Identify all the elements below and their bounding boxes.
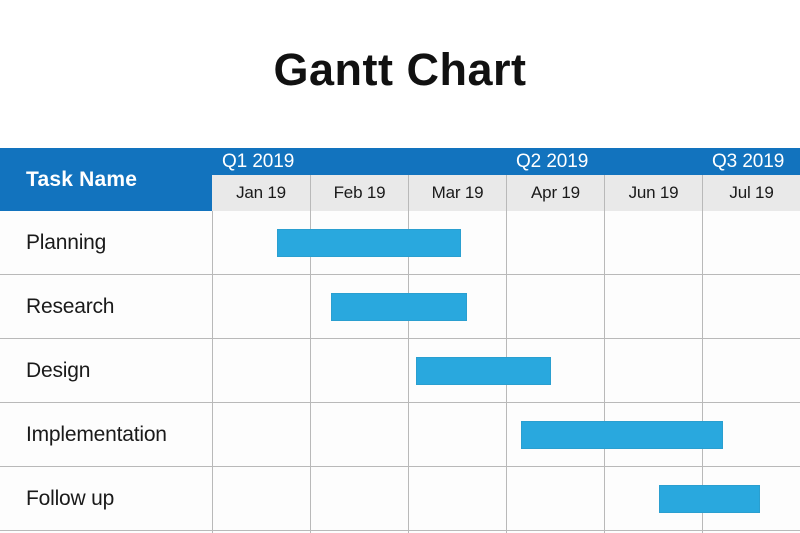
quarter-header-cell: Q3 2019	[702, 148, 800, 175]
month-header-cell[interactable]: Jun 19	[604, 175, 702, 211]
gantt-bar[interactable]	[521, 421, 723, 449]
task-name-label: Follow up	[26, 467, 114, 531]
quarter-header-cell: Q2 2019	[506, 148, 702, 175]
month-header-cell[interactable]: Jan 19	[212, 175, 310, 211]
month-header-cell[interactable]: Jul 19	[702, 175, 800, 211]
quarter-header-row: Q1 2019Q2 2019Q3 2019	[212, 148, 800, 175]
month-header-cell[interactable]: Feb 19	[310, 175, 408, 211]
gantt-bar[interactable]	[659, 485, 760, 513]
month-header-cell[interactable]: Apr 19	[506, 175, 604, 211]
gantt-bar[interactable]	[331, 293, 467, 321]
task-name-label: Design	[26, 339, 90, 403]
gantt-bars-layer	[0, 211, 800, 533]
gantt-bar[interactable]	[277, 229, 461, 257]
quarter-header-cell: Q1 2019	[212, 148, 506, 175]
column-header-task-name: Task Name	[0, 148, 212, 211]
task-name-label: Implementation	[26, 403, 167, 467]
gantt-bar[interactable]	[416, 357, 551, 385]
task-name-label: Planning	[26, 211, 106, 275]
table-header: Task Name Q1 2019Q2 2019Q3 2019 Jan 19Fe…	[0, 148, 800, 211]
gantt-chart-root: Gantt Chart Task Name Q1 2019Q2 2019Q3 2…	[0, 0, 800, 533]
month-header-cell[interactable]: Mar 19	[408, 175, 506, 211]
task-name-label: Research	[26, 275, 114, 339]
month-header-row: Jan 19Feb 19Mar 19Apr 19Jun 19Jul 19	[212, 175, 800, 211]
gantt-table: Task Name Q1 2019Q2 2019Q3 2019 Jan 19Fe…	[0, 148, 800, 533]
page-title: Gantt Chart	[0, 44, 800, 96]
